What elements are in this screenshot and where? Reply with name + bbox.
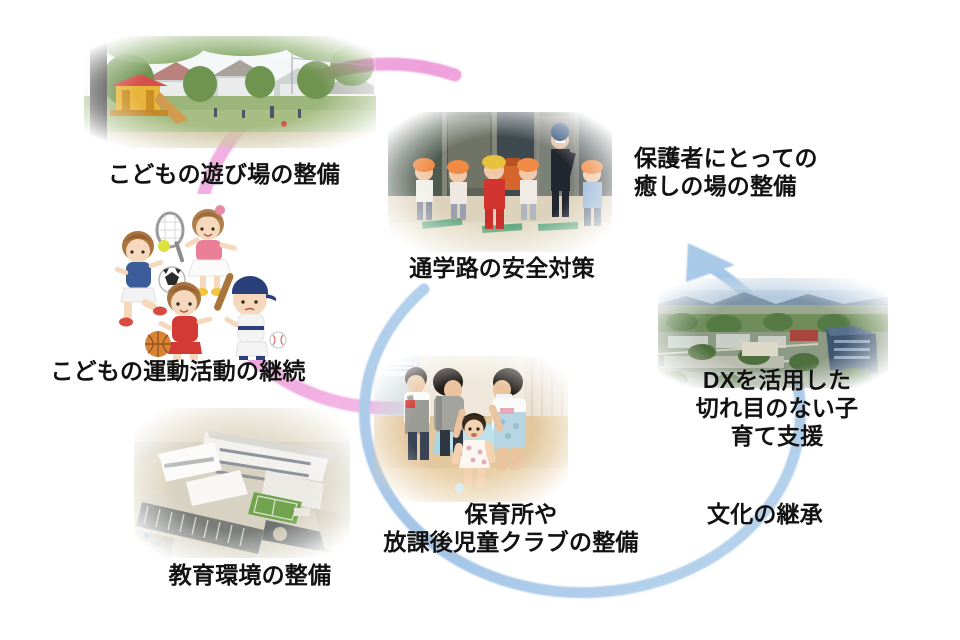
- caption-culture: 文化の継承: [707, 500, 823, 528]
- caption-school-route: 通学路の安全対策: [409, 254, 595, 282]
- caption-nursery: 保育所や 放課後児童クラブの整備: [383, 500, 638, 556]
- caption-playground: こどもの遊び場の整備: [108, 160, 340, 188]
- slide-canvas: こどもの遊び場の整備 通学路の安全対策 保護者にとっての 癒しの場の整備 こども…: [0, 0, 960, 640]
- school-route-safety-photo: [388, 112, 612, 252]
- nursery-childcare-photo: [374, 356, 568, 502]
- caption-education: 教育環境の整備: [169, 561, 331, 589]
- playground-park-photo: [84, 36, 376, 148]
- caption-parent-healing: 保護者にとっての 癒しの場の整備: [634, 144, 818, 200]
- caption-sports: こどもの運動活動の継続: [50, 357, 305, 385]
- school-campus-aerial-photo: [134, 408, 350, 558]
- children-sports-illustration: [102, 194, 314, 360]
- caption-dx-support: DXを活用した 切れ目のない子育て支援: [686, 366, 869, 450]
